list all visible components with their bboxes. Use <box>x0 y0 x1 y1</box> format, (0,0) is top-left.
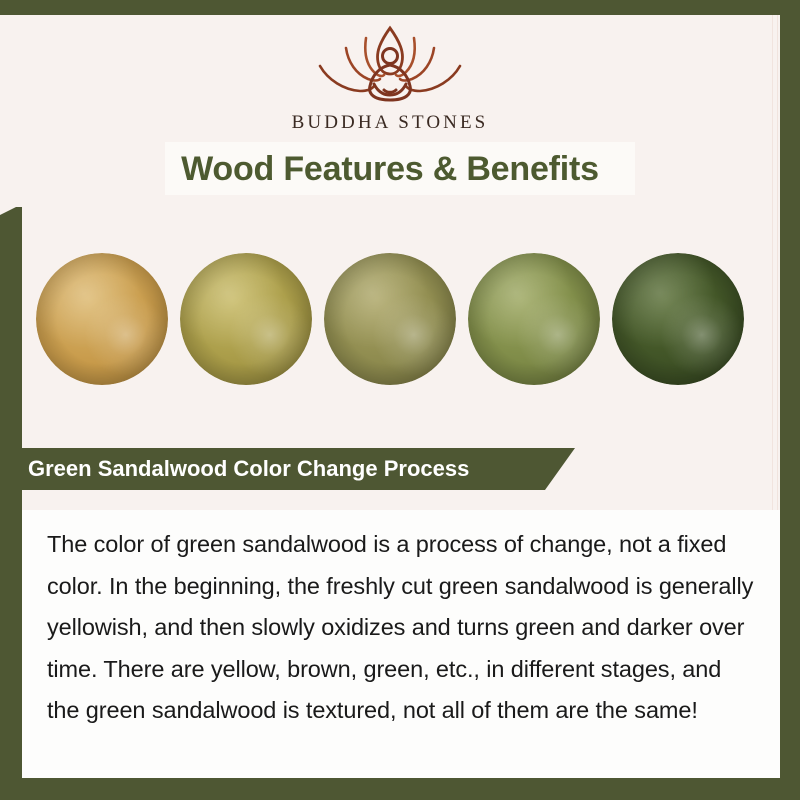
bead-shading <box>324 253 456 385</box>
page-title: Wood Features & Benefits <box>0 143 780 195</box>
bead-stage-3-olive <box>324 253 456 385</box>
frame-bar-left <box>0 207 22 800</box>
bead-stage-4-green <box>468 253 600 385</box>
bead-shading <box>468 253 600 385</box>
frame-bar-bottom <box>0 778 800 800</box>
bead-shading <box>180 253 312 385</box>
brand-logo: BUDDHA STONES <box>0 22 780 134</box>
bead-stage-2-yellow-green <box>180 253 312 385</box>
lotus-meditation-icon <box>300 22 480 108</box>
section-banner-label: Green Sandalwood Color Change Process <box>28 448 469 490</box>
bead-shading <box>36 253 168 385</box>
bead-stage-5-dark-green <box>612 253 744 385</box>
bead-shading <box>612 253 744 385</box>
brand-name: BUDDHA STONES <box>292 112 489 134</box>
poster-root: BUDDHA STONES Wood Features & Benefits G… <box>0 0 800 800</box>
frame-bar-top <box>0 0 800 15</box>
body-paragraph: The color of green sandalwood is a proce… <box>47 524 757 732</box>
frame-bar-right <box>780 0 800 800</box>
bead-color-stages <box>0 253 780 385</box>
bead-stage-1-yellowish <box>36 253 168 385</box>
